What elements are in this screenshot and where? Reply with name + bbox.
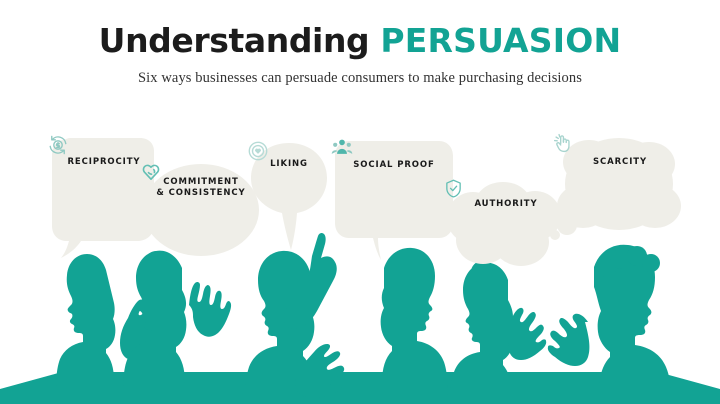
bubble-social-proof-shape bbox=[331, 136, 457, 260]
bubble-scarcity[interactable]: SCARCITY bbox=[553, 132, 687, 244]
bubble-liking-shape bbox=[247, 140, 331, 258]
bubble-scarcity-shape bbox=[553, 132, 687, 244]
infographic-canvas: Understanding PERSUASION Six ways busine… bbox=[0, 0, 720, 404]
title-part-persuasion: PERSUASION bbox=[380, 21, 621, 60]
header: Understanding PERSUASION Six ways busine… bbox=[0, 0, 720, 87]
bubble-authority-shape bbox=[443, 178, 569, 268]
title-part-understanding: Understanding bbox=[99, 21, 370, 60]
bubble-liking[interactable]: LIKING bbox=[247, 140, 331, 258]
bubble-social-proof[interactable]: SOCIAL PROOF bbox=[331, 136, 457, 260]
page-title: Understanding PERSUASION bbox=[0, 0, 720, 59]
page-subtitle: Six ways businesses can persuade consume… bbox=[0, 59, 720, 87]
bubble-commitment-consistency[interactable]: COMMITMENT & CONSISTENCY bbox=[139, 160, 263, 264]
bubble-authority[interactable]: AUTHORITY bbox=[443, 178, 569, 268]
bubble-commitment-shape bbox=[139, 160, 263, 264]
